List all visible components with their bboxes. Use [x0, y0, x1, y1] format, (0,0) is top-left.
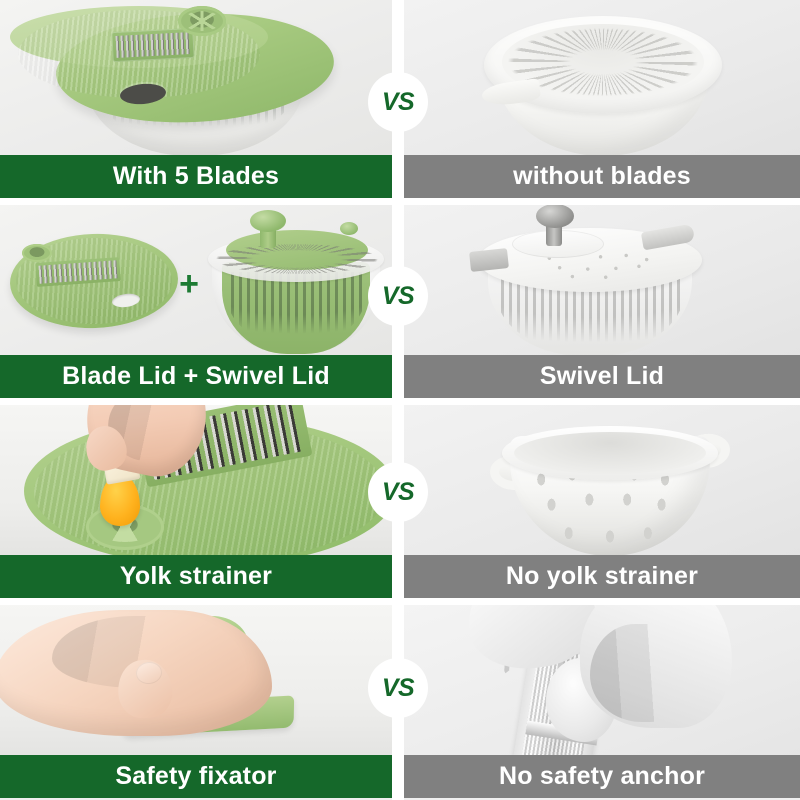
- vs-badge-overlay-4: VS: [368, 658, 428, 718]
- lid-vent-shape: [178, 6, 226, 36]
- row-3-con-image: [404, 400, 800, 555]
- spinner-side-tab-shape: [469, 248, 509, 272]
- row-1-pro-image: [0, 0, 392, 155]
- spinner-knob-shape: [250, 210, 286, 232]
- row-1-con-cell[interactable]: without blades: [404, 0, 800, 200]
- right-hand-fingers-shape: [590, 624, 702, 722]
- colander-interior-shape: [514, 432, 706, 474]
- row-1-pro-label: With 5 Blades: [0, 155, 392, 198]
- row-4-pro-cell[interactable]: Safety fixator: [0, 600, 392, 800]
- vs-badge-overlay-1: VS: [368, 72, 428, 132]
- row-4-con-image: [404, 600, 800, 755]
- row-4-pro-label: Safety fixator: [0, 755, 392, 798]
- row-3-con-label: No yolk strainer: [404, 555, 800, 598]
- row-2-con-cell[interactable]: Swivel Lid: [404, 200, 800, 400]
- grater-blade-shape: [111, 28, 194, 62]
- row-4-pro-image: [0, 600, 392, 755]
- row-3-pro-image: [0, 400, 392, 555]
- row-1-con-image: [404, 0, 800, 155]
- grater-teeth-shape: [115, 32, 190, 58]
- row-3-pro-label: Yolk strainer: [0, 555, 392, 598]
- spinner-gear-shape: [216, 244, 378, 274]
- plus-icon: +: [176, 272, 202, 298]
- row-1-pro-cell[interactable]: With 5 Blades: [0, 0, 392, 200]
- row-3-pro-cell[interactable]: Yolk strainer: [0, 400, 392, 600]
- vs-badge-overlay-2: VS: [368, 266, 428, 326]
- vs-badge-overlay-3: VS: [368, 462, 428, 522]
- row-4-con-label: No safety anchor: [404, 755, 800, 798]
- spinner-small-knob-shape: [340, 222, 358, 235]
- row-3-con-cell[interactable]: No yolk strainer: [404, 400, 800, 600]
- row-2-con-label: Swivel Lid: [404, 355, 800, 398]
- comparison-infographic: With 5 Blades without blades VS +: [0, 0, 800, 800]
- grey-knob-shape: [536, 204, 574, 228]
- disc-vent-shape: [22, 244, 52, 262]
- row-4-con-cell[interactable]: No safety anchor: [404, 600, 800, 800]
- row-2-con-image: [404, 200, 800, 355]
- row-2-pro-image: +: [0, 200, 392, 355]
- row-2-pro-label: Blade Lid + Swivel Lid: [0, 355, 392, 398]
- row-1-con-label: without blades: [404, 155, 800, 198]
- row-2-pro-cell[interactable]: + Blade Lid + Swivel Lid: [0, 200, 392, 400]
